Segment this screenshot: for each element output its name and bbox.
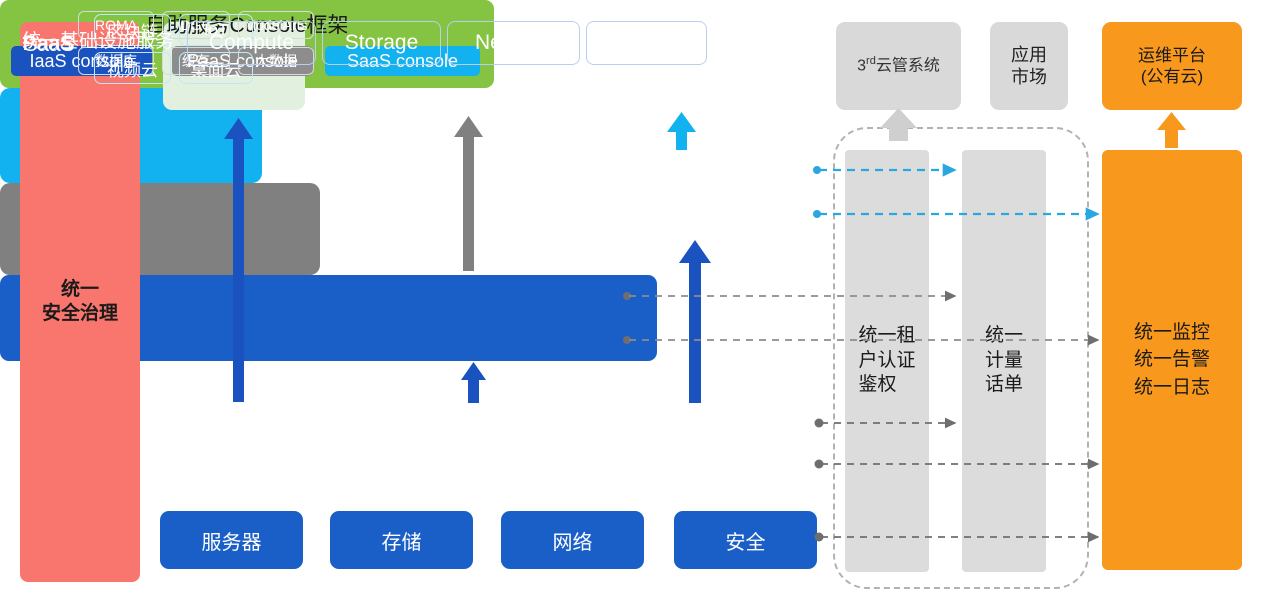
infra-chip-compute[interactable]: Compute: [187, 21, 316, 65]
security-governance-line1: 统一: [42, 278, 118, 302]
ops-platform-line2: (公有云): [1138, 66, 1206, 87]
unified-metering-column: 统一 计量 话单: [962, 150, 1046, 572]
arrow-saas-to-console: [667, 112, 696, 150]
security-governance-line2: 安全治理: [42, 302, 118, 326]
unified-tenant-auth-column: 统一租 户认证 鉴权: [845, 150, 929, 572]
architecture-diagram: 统一 安全治理 API网关 自助服务Console框架 IaaS console…: [0, 0, 1265, 605]
hardware-network-box[interactable]: 网络: [501, 511, 644, 569]
third-party-prefix: 3: [857, 58, 866, 75]
unified-monitoring-panel: 统一监控 统一告警 统一日志: [1102, 150, 1242, 570]
third-party-suffix: 云管系统: [876, 58, 940, 75]
metering-line1: 统一: [985, 324, 1023, 349]
infra-chip-storage[interactable]: Storage: [322, 21, 441, 65]
arrow-paas-to-console: [454, 116, 483, 271]
infra-chip-cce[interactable]: CCE: [586, 21, 707, 65]
hardware-security-box[interactable]: 安全: [674, 511, 817, 569]
monitoring-line3: 统一日志: [1134, 374, 1210, 402]
unified-infrastructure-label: 统一基础设施服务: [12, 26, 184, 53]
third-party-sup: rd: [866, 55, 876, 67]
infra-chip-network[interactable]: Network: [447, 21, 580, 65]
metering-line2: 计量: [985, 349, 1023, 374]
arrow-region-to-ops-platform: [1157, 112, 1186, 148]
third-party-cloud-mgmt-label: 3rd云管系统: [857, 55, 940, 76]
ops-platform-box: 运维平台 (公有云): [1102, 22, 1242, 110]
app-market-box: 应用 市场: [990, 22, 1068, 110]
third-party-cloud-mgmt-box: 3rd云管系统: [836, 22, 961, 110]
tenant-auth-line1: 统一租: [858, 324, 915, 349]
security-governance-panel: 统一 安全治理: [20, 22, 140, 582]
monitoring-line1: 统一监控: [1134, 319, 1210, 347]
tenant-auth-line2: 户认证: [858, 349, 915, 374]
metering-line3: 话单: [985, 373, 1023, 398]
app-market-line2: 市场: [1011, 66, 1047, 89]
arrow-infra-to-paas: [461, 362, 486, 403]
app-market-line1: 应用: [1011, 44, 1047, 67]
ops-platform-line1: 运维平台: [1138, 45, 1206, 66]
hardware-storage-box[interactable]: 存储: [330, 511, 473, 569]
monitoring-line2: 统一告警: [1134, 346, 1210, 374]
tenant-auth-line3: 鉴权: [858, 373, 915, 398]
hardware-server-box[interactable]: 服务器: [160, 511, 303, 569]
arrow-infra-to-saas: [679, 240, 711, 403]
